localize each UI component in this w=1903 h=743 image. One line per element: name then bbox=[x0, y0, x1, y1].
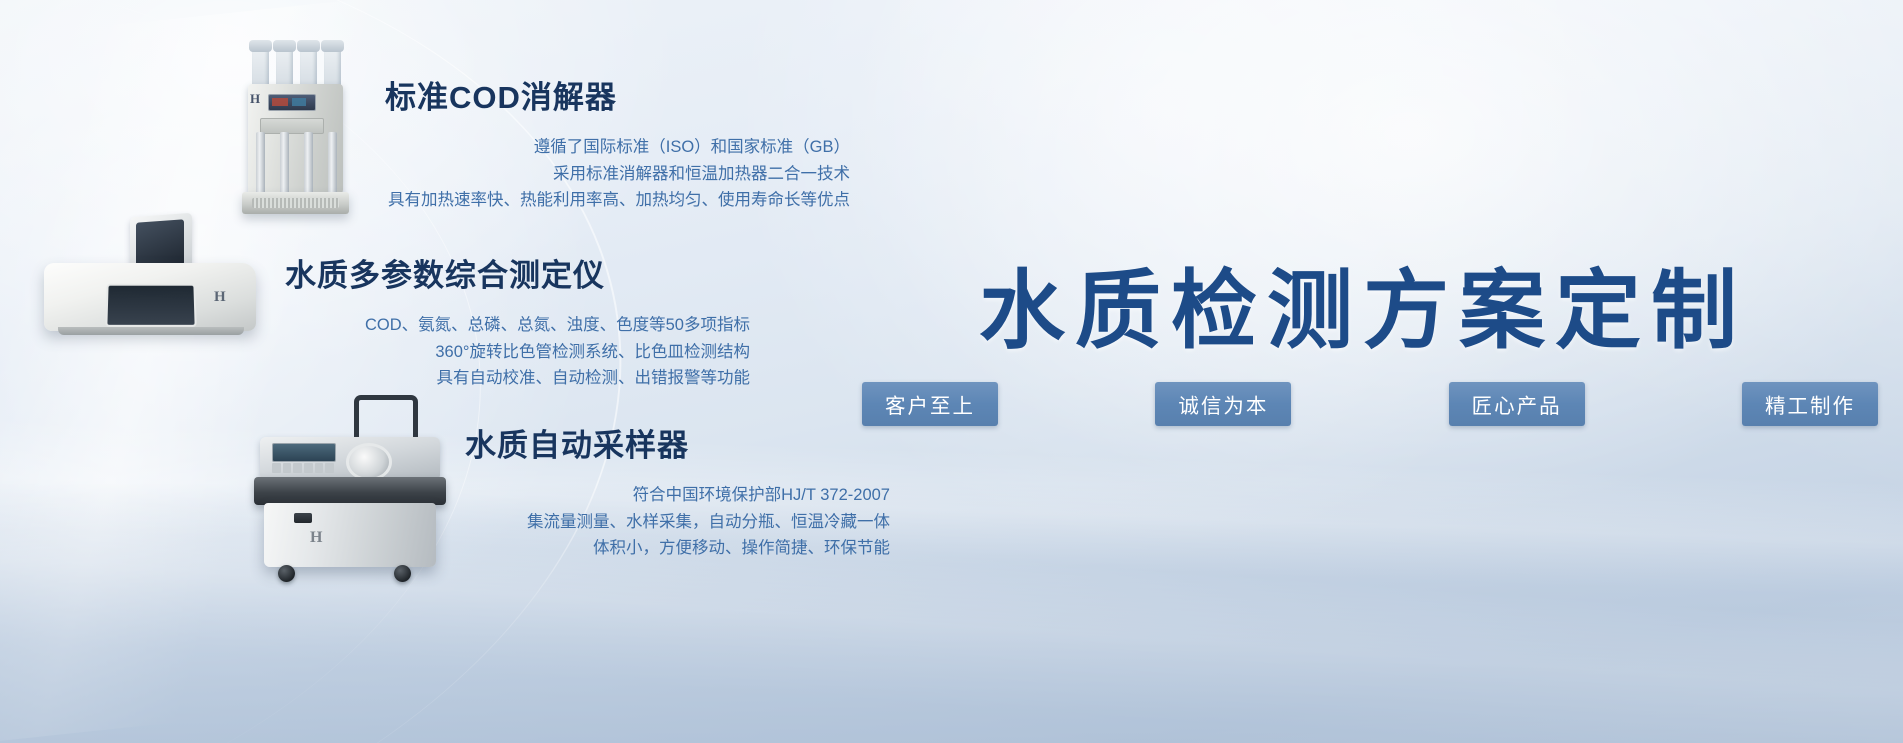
product-block-auto-sampler: 水质自动采样器 符合中国环境保护部HJ/T 372-2007 集流量测量、水样采… bbox=[465, 420, 890, 562]
product-title: 水质自动采样器 bbox=[465, 420, 890, 465]
product-title: 标准COD消解器 bbox=[385, 72, 850, 117]
product-photo-multi-parameter-analyzer: H bbox=[44, 215, 264, 340]
analyzer-keypad bbox=[112, 288, 186, 302]
slogan-badge-integrity[interactable]: 诚信为本 bbox=[1155, 382, 1291, 426]
slogan-badge-fine-manufacturing[interactable]: 精工制作 bbox=[1742, 382, 1878, 426]
product-description-line: 符合中国环境保护部HJ/T 372-2007 bbox=[465, 482, 890, 509]
product-description-line: 具有加热速率快、热能利用率高、加热均匀、使用寿命长等优点 bbox=[385, 187, 850, 214]
heater-rod bbox=[328, 132, 337, 194]
sampler-refrigerated-cabinet bbox=[264, 503, 436, 567]
background-right-sheen bbox=[900, 0, 1903, 743]
caster-wheel-icon bbox=[394, 565, 411, 582]
sampler-peristaltic-pump bbox=[346, 443, 392, 481]
sampler-mid-band bbox=[254, 477, 446, 505]
digester-vent-grille bbox=[252, 198, 339, 208]
product-title: 水质多参数综合测定仪 bbox=[285, 250, 750, 295]
slogan-badge-customer-first[interactable]: 客户至上 bbox=[862, 382, 998, 426]
product-description-line: 体积小，方便移动、操作简捷、环保节能 bbox=[465, 535, 890, 562]
slogan-badge-row: 客户至上 诚信为本 匠心产品 精工制作 bbox=[862, 382, 1878, 426]
sampler-display bbox=[272, 443, 336, 462]
analyzer-lid-window bbox=[136, 219, 184, 268]
sampler-door-handle bbox=[294, 513, 312, 523]
analyzer-base bbox=[58, 327, 244, 335]
product-description-line: 集流量测量、水样采集，自动分瓶、恒温冷藏一体 bbox=[465, 509, 890, 536]
digester-control-panel bbox=[260, 118, 324, 134]
brand-mark-icon: H bbox=[214, 289, 226, 306]
product-description-line: COD、氨氮、总磷、总氮、浊度、色度等50多项指标 bbox=[285, 312, 750, 339]
product-description-line: 具有自动校准、自动检测、出错报警等功能 bbox=[285, 365, 750, 392]
banner-headline: 水质检测方案定制 bbox=[858, 240, 1868, 365]
slogan-badge-craftsmanship[interactable]: 匠心产品 bbox=[1449, 382, 1585, 426]
digester-display bbox=[268, 94, 316, 111]
product-description: COD、氨氮、总磷、总氮、浊度、色度等50多项指标 360°旋转比色管检测系统、… bbox=[285, 312, 750, 392]
product-description-line: 采用标准消解器和恒温加热器二合一技术 bbox=[385, 161, 850, 188]
brand-mark-icon: H bbox=[310, 529, 322, 547]
heater-rod bbox=[304, 132, 313, 194]
product-description-line: 360°旋转比色管检测系统、比色皿检测结构 bbox=[285, 339, 750, 366]
heater-rod bbox=[280, 132, 289, 194]
brand-mark-icon: H bbox=[250, 91, 264, 107]
product-description: 符合中国环境保护部HJ/T 372-2007 集流量测量、水样采集，自动分瓶、恒… bbox=[465, 482, 890, 562]
product-description: 遵循了国际标准（ISO）和国家标准（GB） 采用标准消解器和恒温加热器二合一技术… bbox=[385, 134, 850, 214]
product-block-cod-digester: 标准COD消解器 遵循了国际标准（ISO）和国家标准（GB） 采用标准消解器和恒… bbox=[385, 72, 850, 214]
product-photo-cod-digester: H bbox=[238, 46, 353, 216]
product-description-line: 遵循了国际标准（ISO）和国家标准（GB） bbox=[385, 134, 850, 161]
product-photo-auto-sampler: H bbox=[250, 395, 450, 585]
caster-wheel-icon bbox=[278, 565, 295, 582]
water-quality-banner: H H H 标准COD消解器 遵循了国际标准（ISO） bbox=[0, 0, 1903, 743]
product-block-multi-parameter-analyzer: 水质多参数综合测定仪 COD、氨氮、总磷、总氮、浊度、色度等50多项指标 360… bbox=[285, 250, 750, 392]
heater-rod bbox=[256, 132, 265, 194]
sampler-button-row bbox=[272, 463, 334, 473]
